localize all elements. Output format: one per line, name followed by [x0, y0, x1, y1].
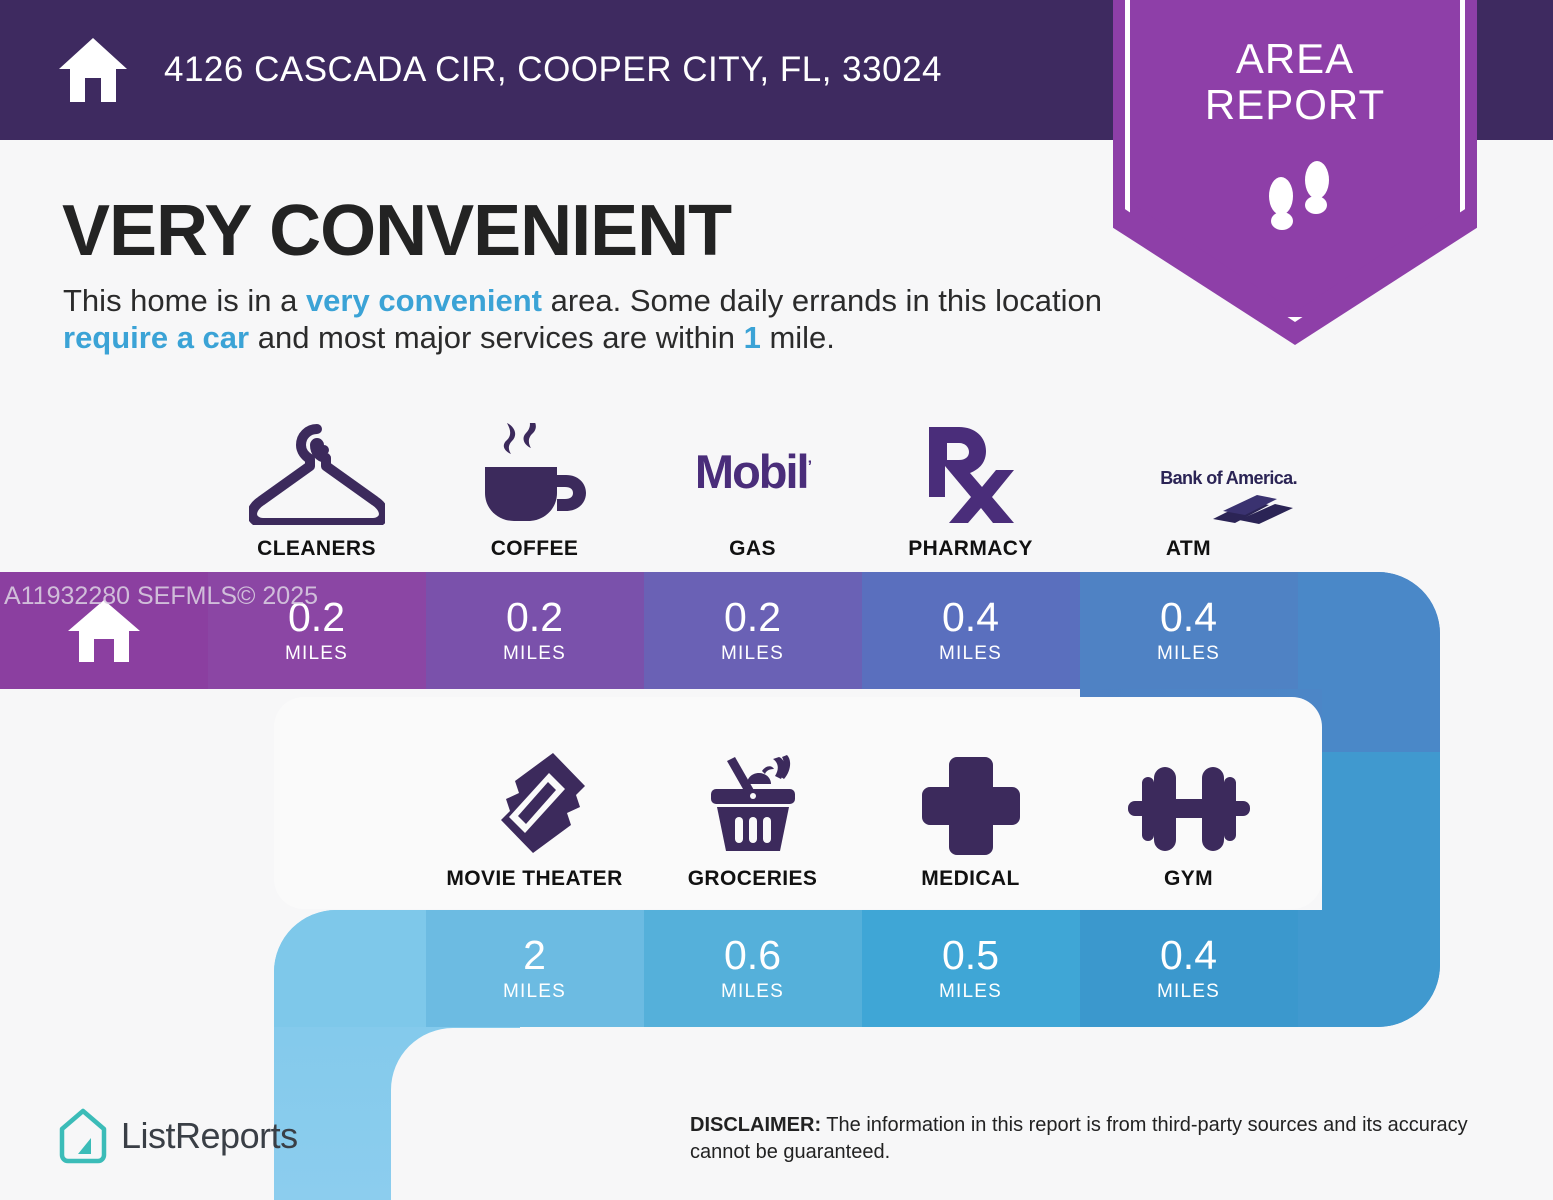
disclaimer-label: DISCLAIMER:: [690, 1114, 821, 1136]
distance-value-group: 0.2 MILES: [426, 572, 643, 689]
distance-unit: MILES: [939, 643, 1002, 665]
poi-label: MEDICAL: [862, 867, 1079, 891]
row2-segment-movie-theater: 2 MILES: [426, 910, 644, 1027]
row1-segment-atm: 0.4 MILES: [1080, 572, 1298, 689]
distance-unit: MILES: [1157, 643, 1220, 665]
distance-unit: MILES: [939, 981, 1002, 1003]
badge-line-1: AREA: [1130, 36, 1460, 82]
distance-value-group: 0.4 MILES: [862, 572, 1079, 689]
distance-value: 0.4: [1160, 935, 1217, 976]
dumbbell-icon: [1080, 755, 1297, 855]
grocery-basket-icon: [644, 755, 861, 855]
distance-value: 0.5: [942, 935, 999, 976]
distance-value-group: 0.2 MILES: [644, 572, 861, 689]
poi-gym[interactable]: GYM: [1080, 755, 1297, 891]
listreports-house-tag-icon: [58, 1108, 108, 1164]
mls-watermark: A11932280 SEFMLS© 2025: [4, 582, 318, 611]
distance-value-group: 2 MILES: [426, 910, 643, 1027]
listreports-logo[interactable]: ListReports: [58, 1108, 298, 1164]
distance-value: 0.6: [724, 935, 781, 976]
row2-start-cap: [274, 910, 426, 1027]
distance-unit: MILES: [285, 643, 348, 665]
row1-segment-pharmacy: 0.4 MILES: [862, 572, 1080, 689]
distance-value: 0.2: [724, 597, 781, 638]
distance-value: 0.2: [506, 597, 563, 638]
poi-label: MOVIE THEATER: [426, 867, 643, 891]
medical-cross-icon: [862, 755, 1079, 855]
ticket-icon: [426, 755, 643, 855]
row2-segment-groceries: 0.6 MILES: [644, 910, 862, 1027]
distance-unit: MILES: [721, 981, 784, 1003]
footprints-icon: [1255, 160, 1345, 240]
distance-value-group: 0.4 MILES: [1080, 572, 1297, 689]
distance-value: 0.4: [942, 597, 999, 638]
distance-value-group: 0.6 MILES: [644, 910, 861, 1027]
distance-unit: MILES: [503, 643, 566, 665]
distance-value-group: 0.4 MILES: [1080, 910, 1297, 1027]
distance-unit: MILES: [1157, 981, 1220, 1003]
poi-label: GROCERIES: [644, 867, 861, 891]
poi-label: GYM: [1080, 867, 1297, 891]
poi-medical[interactable]: MEDICAL: [862, 755, 1079, 891]
disclaimer: DISCLAIMER: The information in this repo…: [690, 1112, 1500, 1166]
poi-groceries[interactable]: GROCERIES: [644, 755, 861, 891]
row2-segment-gym: 0.4 MILES: [1080, 910, 1298, 1027]
distance-unit: MILES: [721, 643, 784, 665]
badge-line-2: REPORT: [1130, 82, 1460, 128]
distance-value: 0.4: [1160, 597, 1217, 638]
poi-movie-theater[interactable]: MOVIE THEATER: [426, 755, 643, 891]
row2-segment-medical: 0.5 MILES: [862, 910, 1080, 1027]
badge-title: AREA REPORT: [1130, 36, 1460, 128]
distance-value: 2: [523, 935, 546, 976]
listreports-wordmark: ListReports: [121, 1115, 298, 1157]
row1-segment-gas: 0.2 MILES: [644, 572, 862, 689]
distance-unit: MILES: [503, 981, 566, 1003]
row1-segment-coffee: 0.2 MILES: [426, 572, 644, 689]
distance-value-group: 0.5 MILES: [862, 910, 1079, 1027]
